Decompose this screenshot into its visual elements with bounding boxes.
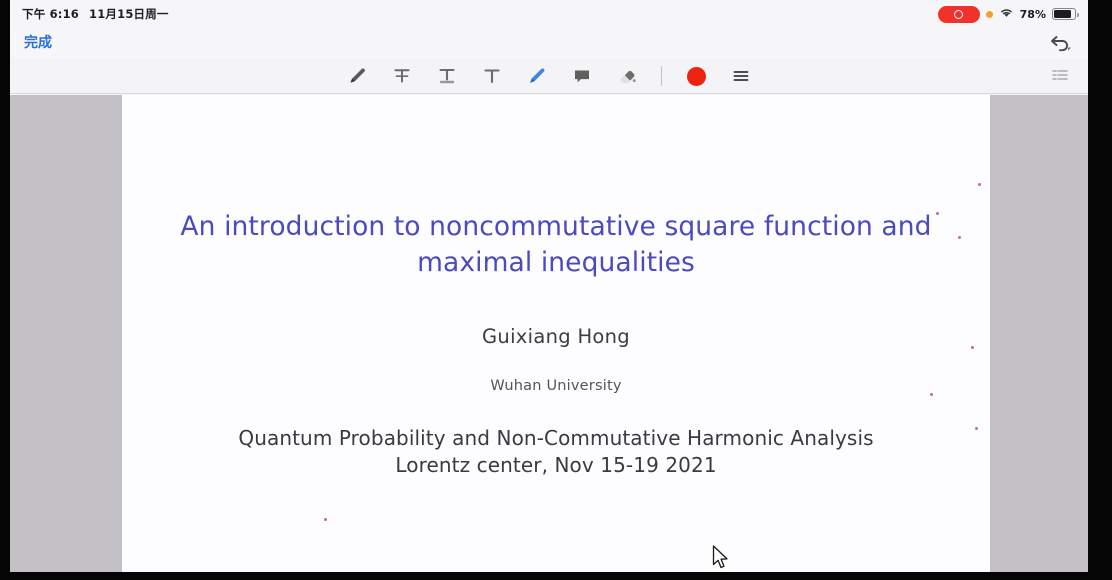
status-bar-time: 下午 6:16 [22, 6, 79, 22]
ink-dot [978, 183, 981, 186]
ink-dot [958, 236, 961, 239]
conference-name: Quantum Probability and Non-Commutative … [122, 425, 990, 452]
ink-dot [975, 427, 978, 430]
pen-tool[interactable] [524, 63, 550, 89]
battery-icon [1052, 8, 1076, 20]
navigation-bar: 完成 [10, 28, 1088, 58]
wifi-icon [999, 5, 1014, 23]
conference-venue-date: Lorentz center, Nov 15-19 2021 [122, 452, 990, 479]
slide-title: An introduction to noncommutative square… [122, 209, 990, 281]
color-swatch-button[interactable] [683, 63, 709, 89]
document-canvas[interactable]: An introduction to noncommutative square… [10, 95, 1088, 572]
tool-group [344, 58, 754, 94]
text-tool[interactable] [479, 63, 505, 89]
undo-button[interactable] [1048, 30, 1074, 54]
outline-list-button[interactable] [1050, 66, 1070, 86]
done-button[interactable]: 完成 [24, 32, 52, 52]
pencil-tool[interactable] [344, 63, 370, 89]
strikethrough-tool[interactable] [389, 63, 415, 89]
device-bezel: 下午 6:16 11月15日周一 78% [0, 0, 1112, 580]
status-bar-left: 下午 6:16 11月15日周一 [22, 6, 169, 22]
annotation-toolbar [10, 58, 1088, 94]
slide-affiliation: Wuhan University [122, 378, 990, 394]
color-swatch [687, 67, 706, 86]
status-bar-right: 78% [938, 5, 1076, 23]
mouse-pointer-cursor [712, 545, 730, 571]
hamburger-menu-button[interactable] [728, 63, 754, 89]
orange-privacy-dot-icon [986, 11, 993, 18]
toolbar-divider [661, 66, 662, 86]
slide-page[interactable]: An introduction to noncommutative square… [122, 95, 990, 572]
ink-dot [324, 518, 327, 521]
record-indicator-icon [938, 6, 980, 23]
slide-author: Guixiang Hong [122, 325, 990, 348]
ink-dot [930, 393, 933, 396]
ink-dot [971, 346, 974, 349]
status-bar-date: 11月15日周一 [89, 6, 169, 22]
ink-dot [936, 212, 939, 215]
tablet-screen: 下午 6:16 11月15日周一 78% [10, 0, 1088, 572]
slide-conference-info: Quantum Probability and Non-Commutative … [122, 425, 990, 479]
underline-tool[interactable] [434, 63, 460, 89]
eraser-tool[interactable] [614, 63, 640, 89]
note-tool[interactable] [569, 63, 595, 89]
battery-percent-label: 78% [1020, 8, 1046, 21]
status-bar: 下午 6:16 11月15日周一 78% [10, 0, 1088, 28]
